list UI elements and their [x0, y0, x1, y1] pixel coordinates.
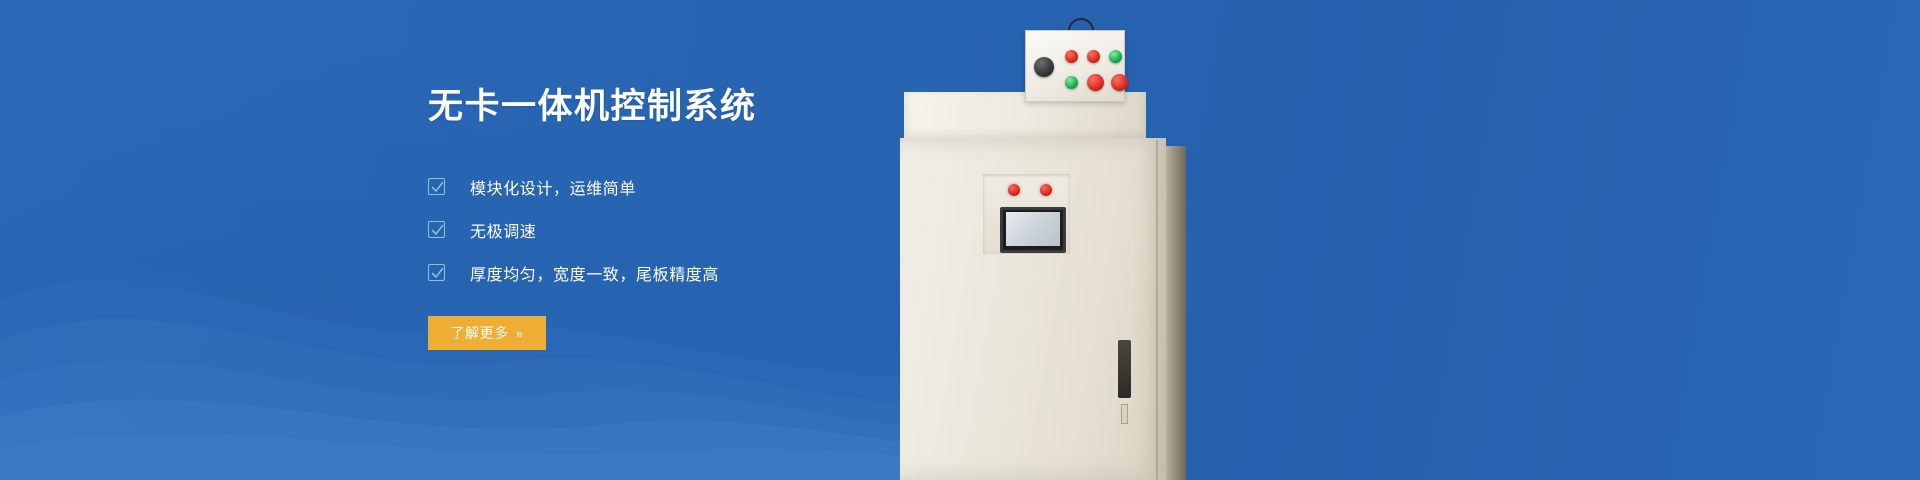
ctrl-button-green-1	[1109, 50, 1122, 63]
hmi-screen-glass	[1006, 212, 1060, 246]
selector-knob	[1034, 57, 1054, 77]
checkbox-checked-icon	[428, 178, 445, 195]
cabinet-latch	[1121, 404, 1128, 424]
cabinet-side-panel	[1166, 146, 1186, 480]
checkbox-checked-icon	[428, 264, 445, 281]
check-mark-icon	[430, 267, 445, 280]
checkbox-checked-icon	[428, 221, 445, 238]
hero-banner: 无卡一体机控制系统 模块化设计，运维简单 无极调速	[0, 0, 1920, 480]
feature-label: 模块化设计，运维简单	[470, 175, 636, 199]
ctrl-button-red-2	[1087, 50, 1100, 63]
learn-more-label: 了解更多	[450, 323, 508, 343]
feature-label: 无极调速	[470, 218, 536, 242]
feature-label: 厚度均匀，宽度一致，尾板精度高	[470, 261, 719, 285]
panel-led-red-left	[1008, 184, 1020, 196]
check-mark-icon	[430, 224, 445, 237]
panel-led-red-right	[1040, 184, 1052, 196]
ctrl-button-red-4	[1111, 74, 1128, 91]
cabinet-door-seam	[1156, 140, 1158, 480]
control-cabinet-photo	[880, 0, 1310, 480]
check-mark-icon	[430, 181, 445, 194]
ctrl-button-red-1	[1065, 50, 1078, 63]
cabinet-vent-slot	[1118, 340, 1131, 398]
learn-more-button[interactable]: 了解更多 »	[428, 316, 546, 350]
ctrl-button-red-3	[1087, 74, 1104, 91]
chevron-right-icon: »	[516, 326, 524, 341]
ctrl-button-green-2	[1065, 76, 1078, 89]
